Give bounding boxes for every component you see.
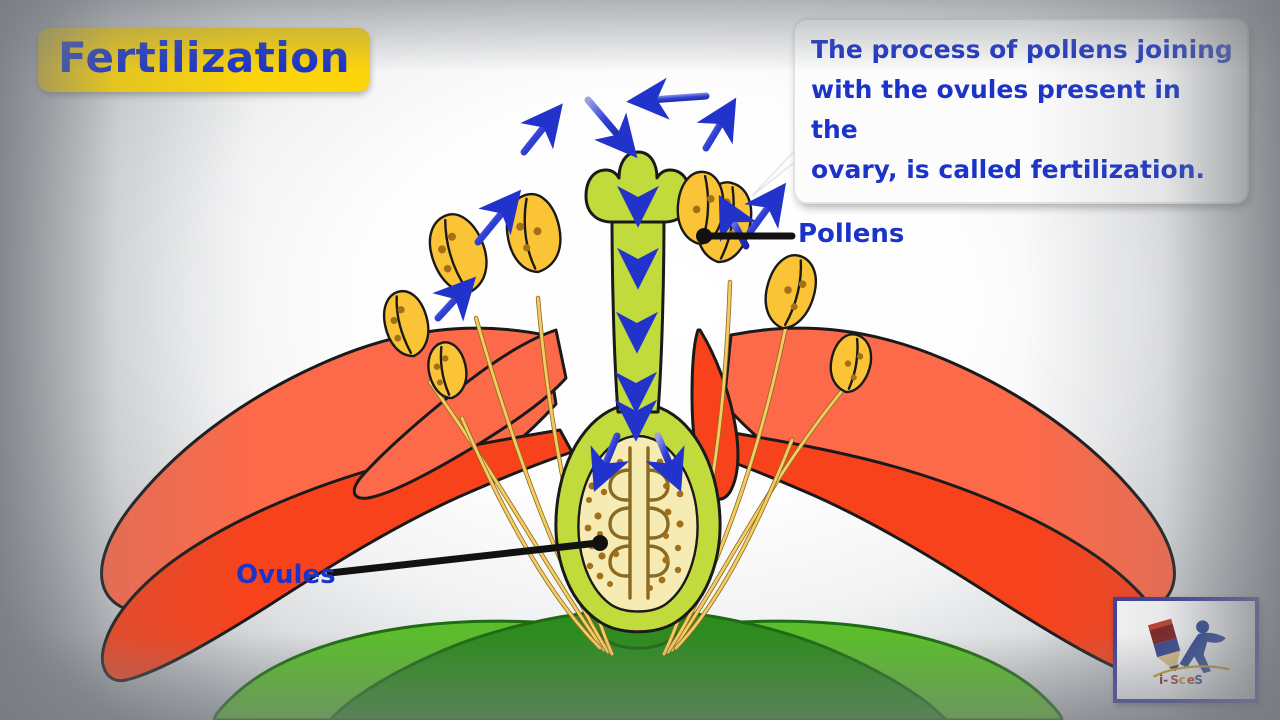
anther-l3 (500, 189, 567, 276)
channel-logo: i- S c e S (1113, 597, 1259, 703)
page-title: Fertilization (38, 28, 370, 92)
svg-text:i-: i- (1159, 673, 1168, 687)
label-ovules: Ovules (236, 560, 336, 590)
page-title-text: Fertilization (58, 34, 350, 82)
pollen-arrow-5 (478, 208, 506, 242)
slide-canvas: .ol { stroke:#1a1a1a; stroke-width:3; st… (0, 0, 1280, 720)
style-flow-arrows (636, 168, 638, 418)
pollen-arrow-6 (750, 202, 772, 232)
label-pollens: Pollens (798, 219, 904, 249)
definition-line-3: ovary, is called fertilization. (811, 150, 1233, 190)
svg-text:S: S (1194, 673, 1203, 687)
definition-line-2: with the ovules present in the (811, 70, 1233, 150)
anther-l2 (419, 207, 497, 301)
svg-text:S: S (1170, 673, 1179, 687)
definition-line-1: The process of pollens joining (811, 30, 1233, 70)
pollen-arrow-8 (438, 294, 460, 318)
pollen-arrow-4 (706, 118, 724, 148)
anther-r2 (756, 249, 824, 334)
pollen-arrow-3 (524, 122, 548, 152)
pollen-arrow-2 (588, 100, 622, 140)
svg-text:c: c (1179, 673, 1186, 687)
logo-mark: i- S c e S (1117, 601, 1255, 699)
definition-callout: The process of pollens joining with the … (793, 18, 1249, 204)
pollen-arrow-1 (650, 96, 706, 100)
